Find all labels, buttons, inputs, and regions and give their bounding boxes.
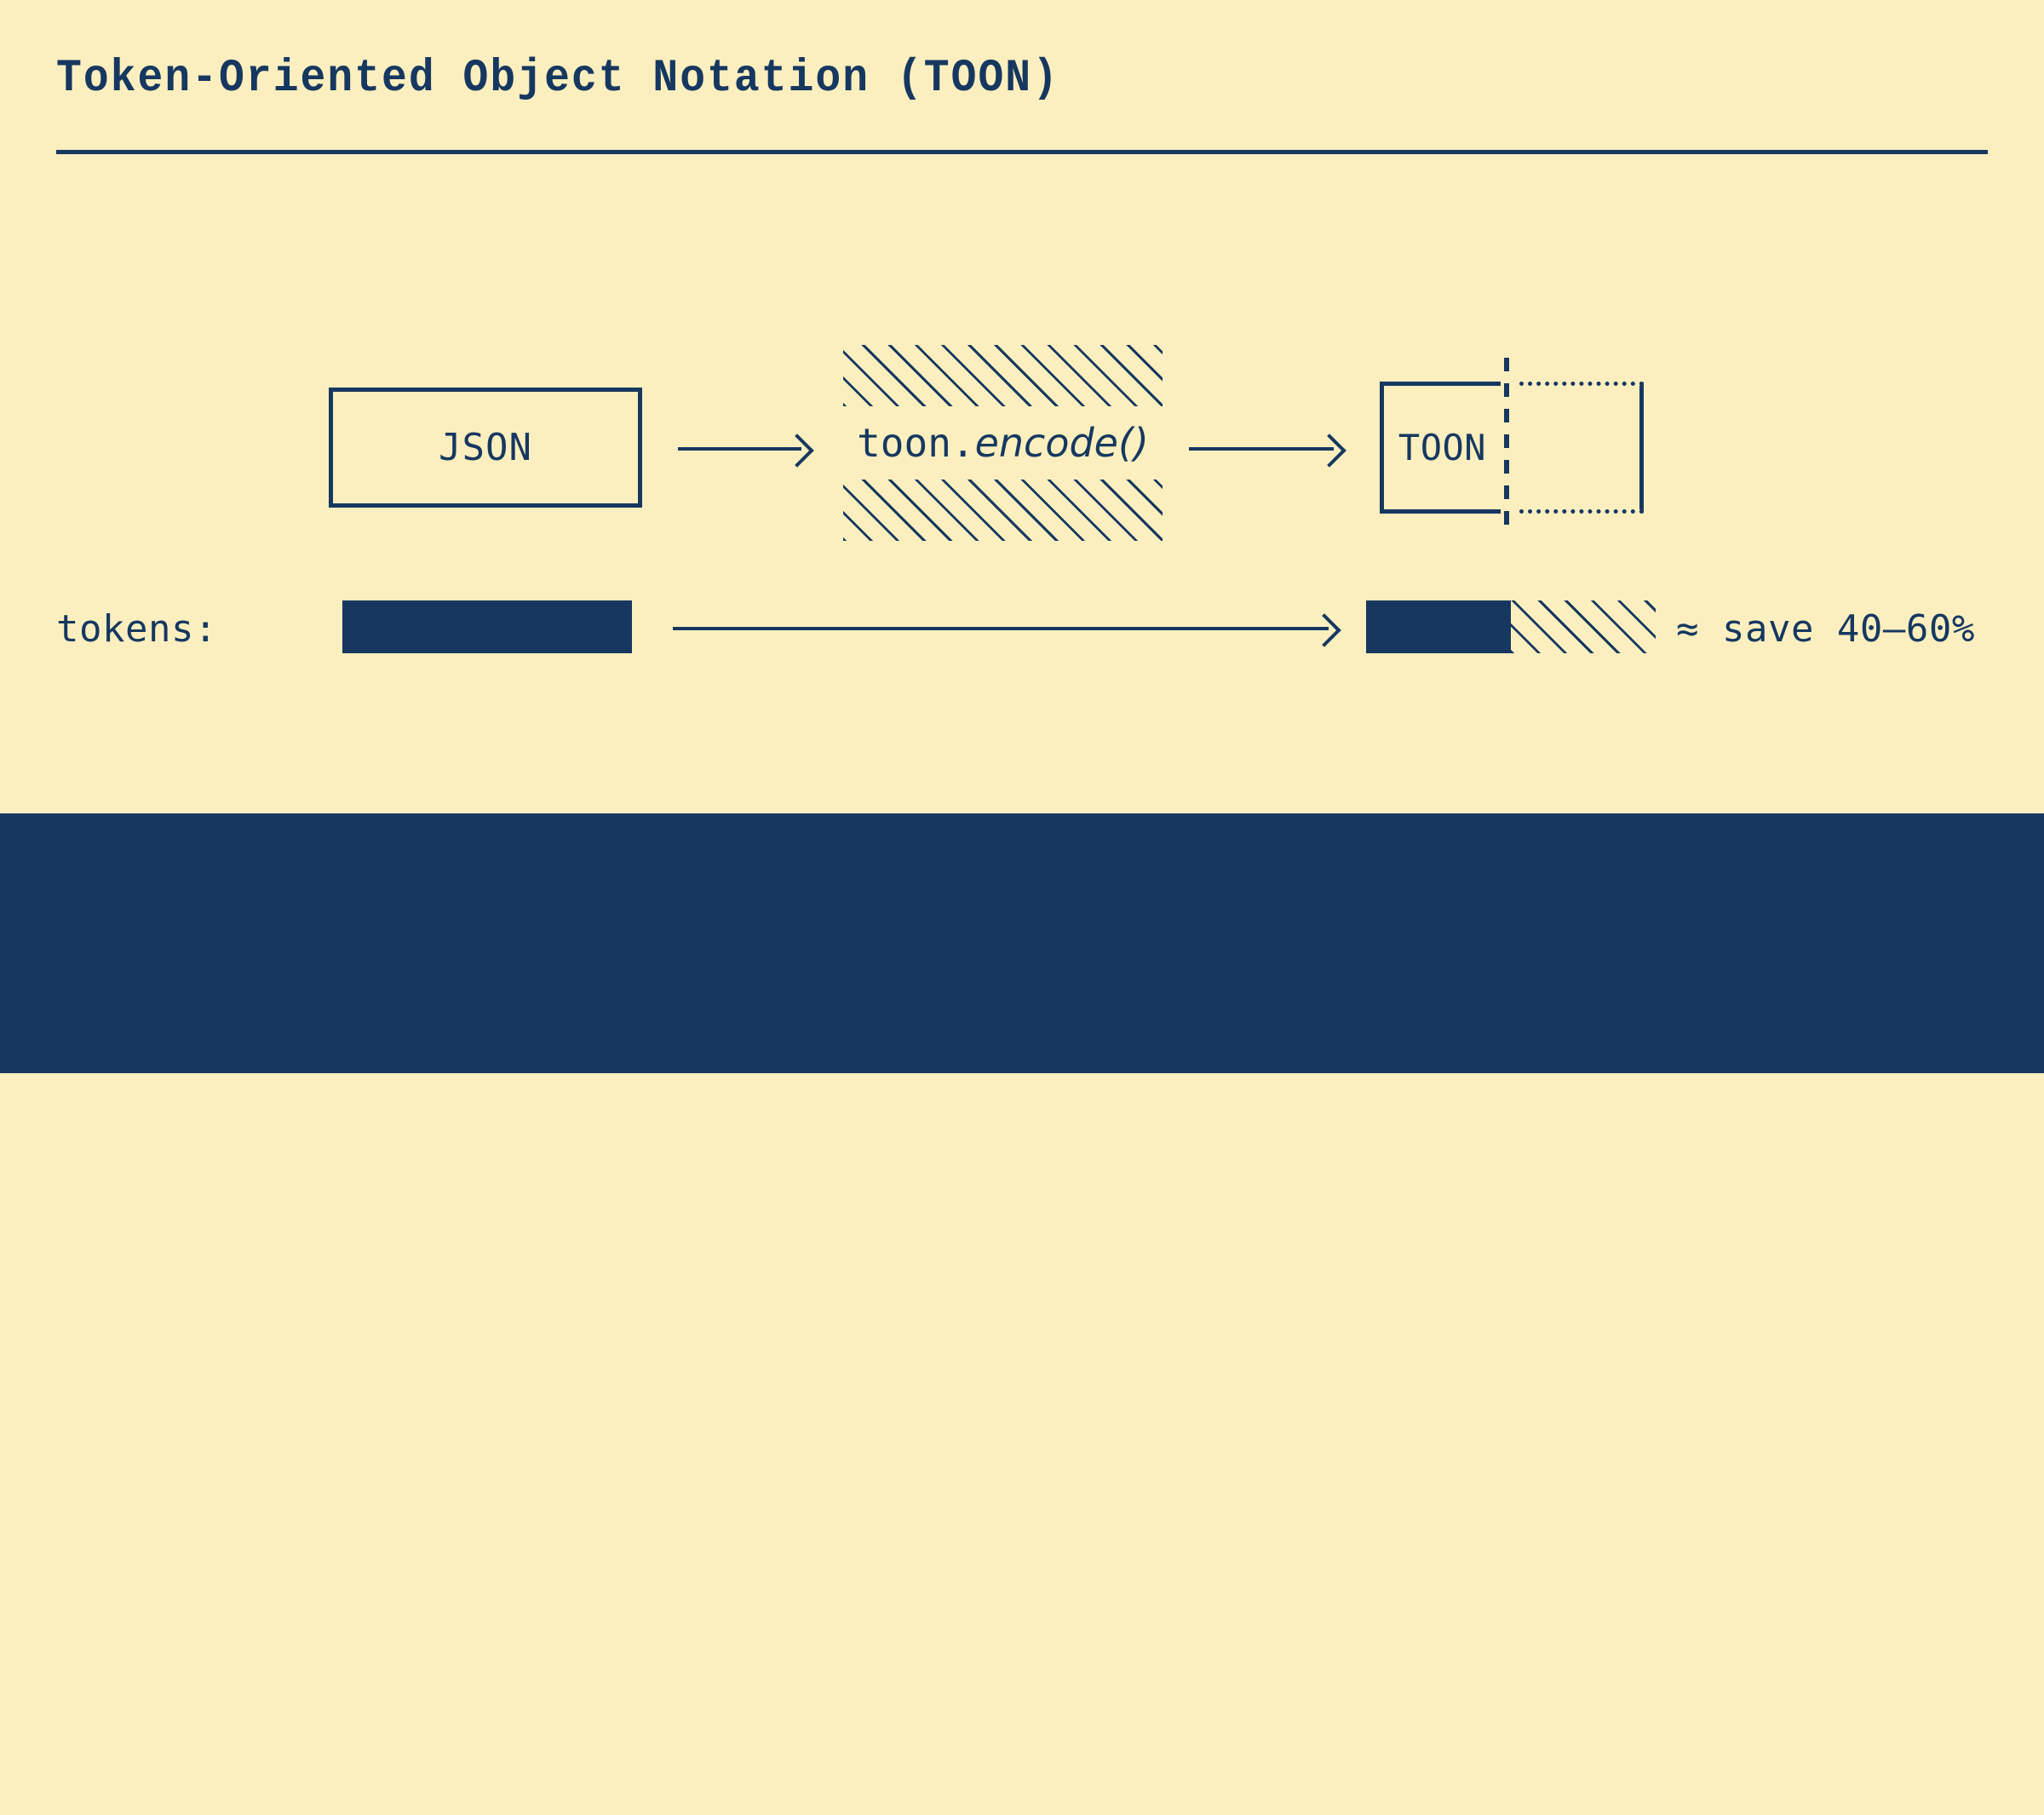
sample-line-toon-arrow-icon: → <box>437 1771 460 1815</box>
arrow-head-icon <box>780 434 814 468</box>
json-node-label: JSON <box>439 426 532 469</box>
encode-node-label: toon.encode() <box>843 406 1163 480</box>
sample-line-toon-format: TOON <box>322 1771 414 1815</box>
sample-label: sample: <box>56 1699 218 1743</box>
encode-prefix: toon. <box>857 420 974 466</box>
sample-line-json-format: JSON <box>322 1699 414 1743</box>
token-bar-json <box>342 600 632 653</box>
json-node: JSON <box>329 388 642 508</box>
arrow-head-icon <box>1307 613 1341 647</box>
arrow-encode-to-toon <box>1189 432 1347 466</box>
toon-node: TOON <box>1380 382 1644 514</box>
hatch-pattern-bottom <box>843 480 1163 541</box>
toon-node-divider <box>1504 358 1509 537</box>
savings-note: ≈ save 40–60% <box>1676 607 1975 651</box>
token-bar-toon-used <box>1366 600 1511 653</box>
tokens-row-label: tokens: <box>56 607 217 651</box>
arrow-json-to-encode <box>678 432 814 466</box>
hatch-pattern-top <box>843 345 1163 406</box>
sample-line-json-arrow-icon: → <box>437 1699 460 1743</box>
toon-node-label: TOON <box>1398 427 1486 468</box>
sample-line-toon: TOON → tags[3]: jazz,chill,lofi <box>322 1771 1035 1815</box>
encode-call: encode() <box>975 420 1149 466</box>
sample-line-json: JSON → { "tags": ["jazz", "chill", "lofi… <box>322 1699 1333 1743</box>
toon-node-saved-region <box>1519 382 1644 514</box>
token-bar-toon-saved <box>1511 600 1656 653</box>
arrow-tokens-comparison <box>673 612 1342 646</box>
arrow-shaft <box>673 627 1329 630</box>
toon-node-filled: TOON <box>1380 382 1501 514</box>
sample-line-toon-code: tags[3]: jazz,chill,lofi <box>483 1771 1035 1815</box>
sample-line-json-code: { "tags": ["jazz", "chill", "lofi"] } <box>483 1699 1333 1743</box>
pipeline-diagram: JSON toon.encode() TOON tokens: ≈ save 4… <box>0 0 2044 813</box>
encode-node: toon.encode() <box>843 345 1163 541</box>
arrow-head-icon <box>1312 434 1346 468</box>
token-bar-toon <box>1366 600 1656 653</box>
sample-band: sample: JSON → { "tags": ["jazz", "chill… <box>0 813 2044 1073</box>
